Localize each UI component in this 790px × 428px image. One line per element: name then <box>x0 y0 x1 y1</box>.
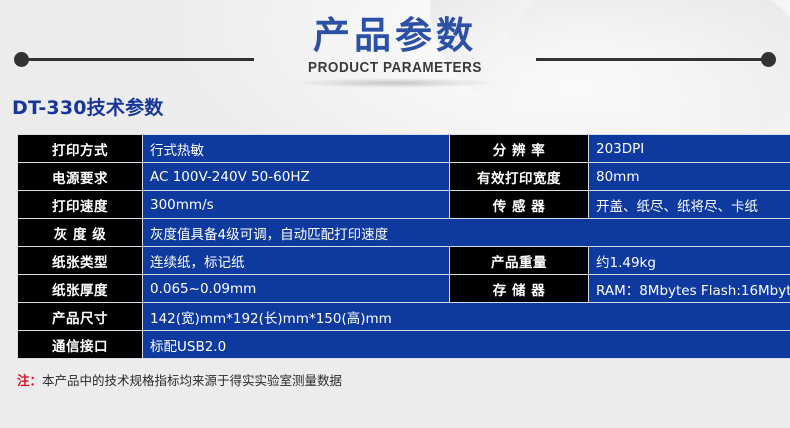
table-row: 电源要求 AC 100V-240V 50-60HZ 有效打印宽度 80mm <box>18 163 790 191</box>
table-row: 纸张类型 连续纸，标记纸 产品重量 约1.49kg <box>18 247 790 275</box>
page-title-cn: 产品参数 <box>0 17 790 56</box>
page-header: 产品参数 PRODUCT PARAMETERS DT-330技术参数 <box>0 0 790 128</box>
spec-value: 约1.49kg <box>589 247 790 275</box>
spec-value: 行式热敏 <box>143 135 450 163</box>
table-row: 打印方式 行式热敏 分 辨 率 203DPI <box>18 135 790 163</box>
table-row: 通信接口 标配USB2.0 <box>18 331 790 359</box>
table-row: 产品尺寸 142(宽)mm*192(长)mm*150(高)mm <box>18 303 790 331</box>
product-parameters-page: 产品参数 PRODUCT PARAMETERS DT-330技术参数 打印方式 … <box>0 0 790 428</box>
spec-value: 80mm <box>589 163 790 191</box>
spec-value: 开盖、纸尽、纸将尽、卡纸 <box>589 191 790 219</box>
title-shadow <box>295 78 495 88</box>
table-row: 灰 度 级 灰度值具备4级可调，自动匹配打印速度 <box>18 219 790 247</box>
footnote-mark: 注： <box>17 373 42 388</box>
spec-label: 打印速度 <box>18 191 143 219</box>
specification-table-body: 打印方式 行式热敏 分 辨 率 203DPI 电源要求 AC 100V-240V… <box>18 135 790 359</box>
page-subheading: DT-330技术参数 <box>12 93 164 120</box>
spec-value: 300mm/s <box>143 191 450 219</box>
spec-value: 灰度值具备4级可调，自动匹配打印速度 <box>143 219 790 247</box>
spec-value: 连续纸，标记纸 <box>143 247 450 275</box>
table-row: 纸张厚度 0.065~0.09mm 存 储 器 RAM：8Mbytes Flas… <box>18 275 790 303</box>
spec-value: 0.065~0.09mm <box>143 275 450 303</box>
spec-label: 有效打印宽度 <box>450 163 589 191</box>
spec-label: 分 辨 率 <box>450 135 589 163</box>
spec-label: 存 储 器 <box>450 275 589 303</box>
spec-label: 灰 度 级 <box>18 219 143 247</box>
spec-label: 纸张类型 <box>18 247 143 275</box>
footnote-text: 本产品中的技术规格指标均来源于得实实验室测量数据 <box>42 373 342 388</box>
spec-value: AC 100V-240V 50-60HZ <box>143 163 450 191</box>
spec-value: 标配USB2.0 <box>143 331 790 359</box>
page-title-en: PRODUCT PARAMETERS <box>28 60 763 76</box>
spec-label: 通信接口 <box>18 331 143 359</box>
spec-label: 产品尺寸 <box>18 303 143 331</box>
footnote: 注：本产品中的技术规格指标均来源于得实实验室测量数据 <box>17 370 342 389</box>
spec-label: 产品重量 <box>450 247 589 275</box>
spec-label: 传 感 器 <box>450 191 589 219</box>
spec-label: 纸张厚度 <box>18 275 143 303</box>
spec-value: 142(宽)mm*192(长)mm*150(高)mm <box>143 303 790 331</box>
spec-label: 打印方式 <box>18 135 143 163</box>
page-title-block: 产品参数 PRODUCT PARAMETERS <box>0 17 790 76</box>
table-row: 打印速度 300mm/s 传 感 器 开盖、纸尽、纸将尽、卡纸 <box>18 191 790 219</box>
spec-label: 电源要求 <box>18 163 143 191</box>
specification-table: 打印方式 行式热敏 分 辨 率 203DPI 电源要求 AC 100V-240V… <box>17 134 790 359</box>
spec-value: 203DPI <box>589 135 790 163</box>
spec-value: RAM：8Mbytes Flash:16Mbytes <box>589 275 790 303</box>
